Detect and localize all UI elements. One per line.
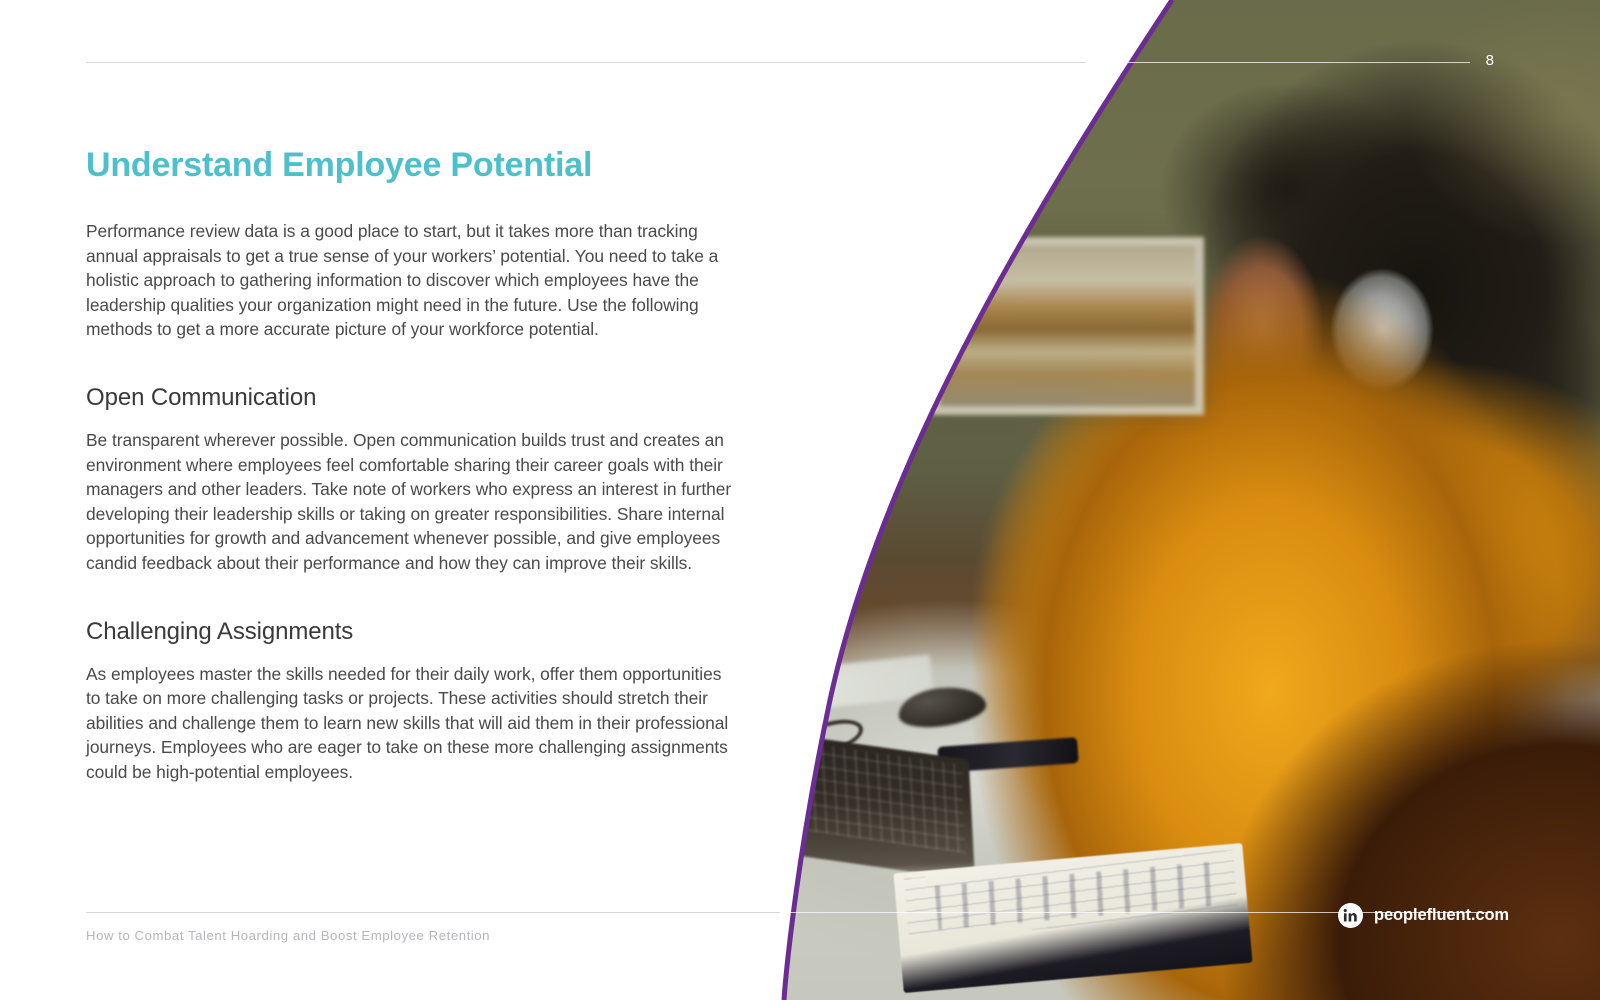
- page-number: 8: [1470, 52, 1510, 69]
- header-rule-left: [86, 62, 1086, 63]
- section-heading-challenging-assignments: Challenging Assignments: [86, 618, 746, 646]
- header-rule-right: [1112, 62, 1470, 63]
- section-body-open-communication: Be transparent wherever possible. Open c…: [86, 428, 754, 576]
- section-body-challenging-assignments: As employees master the skills needed fo…: [86, 662, 734, 785]
- text-column: Understand Employee Potential Performanc…: [86, 146, 746, 785]
- section-heading-open-communication: Open Communication: [86, 384, 746, 412]
- brand-lockup[interactable]: peoplefluent.com: [1338, 903, 1509, 928]
- brand-name[interactable]: peoplefluent.com: [1374, 906, 1509, 925]
- linkedin-icon[interactable]: [1338, 903, 1363, 928]
- framed-painting: [940, 246, 1195, 406]
- document-page: 8 Understand Employee Potential Performa…: [0, 0, 1600, 1000]
- page-title: Understand Employee Potential: [86, 146, 746, 185]
- footer-caption: How to Combat Talent Hoarding and Boost …: [86, 908, 490, 943]
- intro-paragraph: Performance review data is a good place …: [86, 219, 726, 342]
